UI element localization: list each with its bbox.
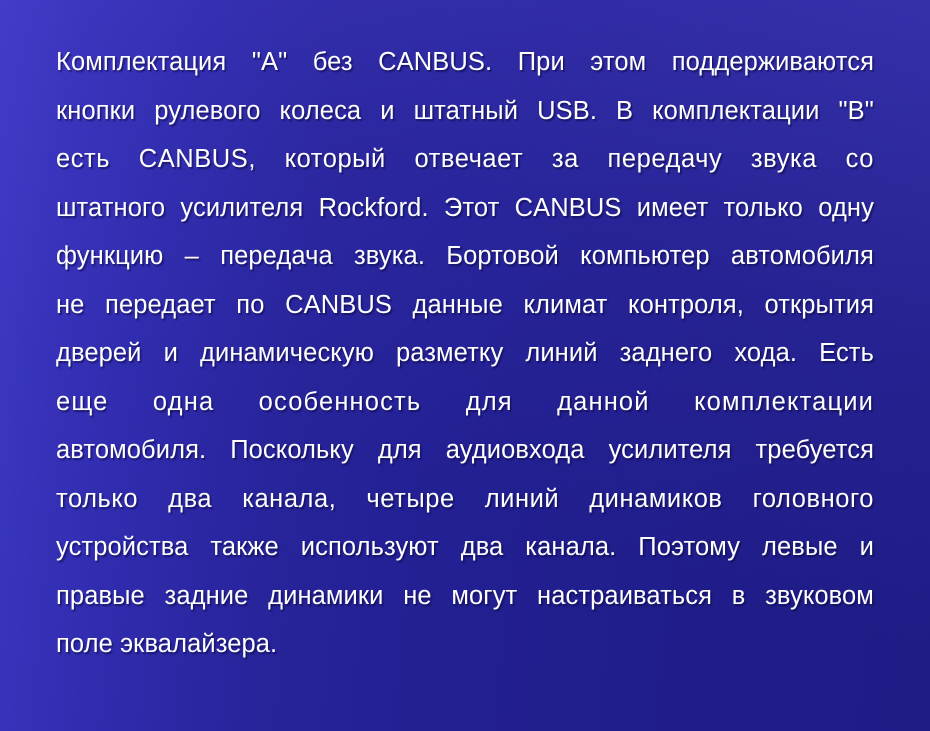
line-word: звука xyxy=(751,135,817,184)
line-word: этом xyxy=(590,38,646,87)
line-word: который xyxy=(285,135,386,184)
line-word: колеса xyxy=(280,87,362,136)
line-word: CANBUS xyxy=(285,281,392,330)
paragraph-line-6: не передает по CANBUS данные климат конт… xyxy=(56,281,874,330)
line-word: штатного xyxy=(56,184,165,233)
line-word: передает xyxy=(105,281,216,330)
line-word: компьютер xyxy=(580,232,709,281)
line-word: и xyxy=(164,329,178,378)
line-word: функцию xyxy=(56,232,163,281)
line-word: открытия xyxy=(764,281,874,330)
line-word: отвечает xyxy=(415,135,524,184)
line-word: Этот xyxy=(444,184,499,233)
line-word: передачу xyxy=(608,135,723,184)
line-word: не xyxy=(403,572,431,621)
line-word: В xyxy=(616,87,633,136)
line-word: Бортовой xyxy=(446,232,559,281)
line-word: Есть xyxy=(819,329,874,378)
line-word: разметку xyxy=(396,329,503,378)
line-word: линий xyxy=(485,475,559,524)
line-word: климат xyxy=(523,281,607,330)
line-word: звука. xyxy=(354,232,425,281)
line-word: Поэтому xyxy=(638,523,740,572)
line-word: CANBUS xyxy=(515,184,622,233)
line-word: требуется xyxy=(756,426,874,475)
paragraph-line-9: автомобиля. Поскольку для аудиовхода уси… xyxy=(56,426,874,475)
line-word: имеет xyxy=(637,184,708,233)
line-word: одна xyxy=(153,378,214,427)
line-word: штатный xyxy=(414,87,519,136)
line-word: и xyxy=(380,87,394,136)
line-word: звуковом xyxy=(765,572,874,621)
paragraph-text-block: Комплектация "А" без CANBUS. При этом по… xyxy=(56,38,874,669)
line-word: передача xyxy=(220,232,333,281)
line-word: четыре xyxy=(366,475,454,524)
line-word: еще xyxy=(56,378,109,427)
paragraph-line-2: кнопки рулевого колеса и штатный USB. В … xyxy=(56,87,874,136)
paragraph-line-8: еще одна особенность для данной комплект… xyxy=(56,378,874,427)
line-word: усилителя xyxy=(609,426,732,475)
line-word: CANBUS. xyxy=(378,38,492,87)
line-word: левые xyxy=(762,523,838,572)
line-word: канала, xyxy=(242,475,336,524)
line-word: данные xyxy=(413,281,503,330)
paragraph-line-7: дверей и динамическую разметку линий зад… xyxy=(56,329,874,378)
line-word: контроля, xyxy=(628,281,744,330)
line-word: для xyxy=(466,378,513,427)
line-word: рулевого xyxy=(154,87,260,136)
line-word: дверей xyxy=(56,329,142,378)
paragraph-line-10: только два канала, четыре линий динамико… xyxy=(56,475,874,524)
line-word: устройства xyxy=(56,523,188,572)
paragraph-line-13: поле эквалайзера. xyxy=(56,620,874,669)
line-word: "А" xyxy=(252,38,287,87)
line-word: два xyxy=(461,523,504,572)
line-word: также xyxy=(210,523,278,572)
line-word: особенность xyxy=(259,378,422,427)
line-word: есть xyxy=(56,135,110,184)
line-word: настраиваться xyxy=(537,572,712,621)
slide-canvas: Комплектация "А" без CANBUS. При этом по… xyxy=(0,0,930,731)
line-word: аудиовхода xyxy=(446,426,585,475)
line-word: автомобиля. xyxy=(56,426,206,475)
line-word: динамики xyxy=(268,572,383,621)
line-word: USB. xyxy=(537,87,597,136)
line-word: и xyxy=(860,523,874,572)
line-word: канала. xyxy=(525,523,616,572)
line-word: могут xyxy=(451,572,517,621)
paragraph-line-11: устройства также используют два канала. … xyxy=(56,523,874,572)
line-word: для xyxy=(378,426,422,475)
line-word: по xyxy=(236,281,264,330)
line-word: динамическую xyxy=(200,329,374,378)
line-word: автомобиля xyxy=(731,232,874,281)
paragraph-line-3: есть CANBUS, который отвечает за передач… xyxy=(56,135,874,184)
paragraph-line-12: правые задние динамики не могут настраив… xyxy=(56,572,874,621)
line-word: CANBUS, xyxy=(139,135,256,184)
line-word: хода. xyxy=(734,329,797,378)
line-word: используют xyxy=(301,523,439,572)
line-word: со xyxy=(846,135,874,184)
paragraph-line-5: функцию – передача звука. Бортовой компь… xyxy=(56,232,874,281)
line-word: заднего xyxy=(620,329,713,378)
line-word: не xyxy=(56,281,84,330)
line-word: только xyxy=(56,475,138,524)
line-word: в xyxy=(732,572,746,621)
line-word: усилителя xyxy=(180,184,303,233)
line-word: данной xyxy=(557,378,650,427)
line-word: поддерживаются xyxy=(672,38,874,87)
line-word: одну xyxy=(818,184,874,233)
line-word: Rockford. xyxy=(319,184,429,233)
line-word: без xyxy=(313,38,353,87)
line-word: динамиков xyxy=(589,475,722,524)
line-word: задние xyxy=(165,572,249,621)
line-word: Поскольку xyxy=(230,426,354,475)
line-word: – xyxy=(185,232,199,281)
line-word: Комплектация xyxy=(56,38,226,87)
line-word: "В" xyxy=(838,87,873,136)
paragraph-line-1: Комплектация "А" без CANBUS. При этом по… xyxy=(56,38,874,87)
line-word: правые xyxy=(56,572,145,621)
line-word: комплектации xyxy=(694,378,874,427)
line-word: кнопки xyxy=(56,87,135,136)
paragraph-line-4: штатного усилителя Rockford. Этот CANBUS… xyxy=(56,184,874,233)
line-word: два xyxy=(168,475,212,524)
line-word: только xyxy=(724,184,803,233)
line-word: линий xyxy=(525,329,597,378)
line-word: комплектации xyxy=(652,87,819,136)
line-word: головного xyxy=(753,475,874,524)
line-word: При xyxy=(518,38,565,87)
line-word: за xyxy=(552,135,579,184)
